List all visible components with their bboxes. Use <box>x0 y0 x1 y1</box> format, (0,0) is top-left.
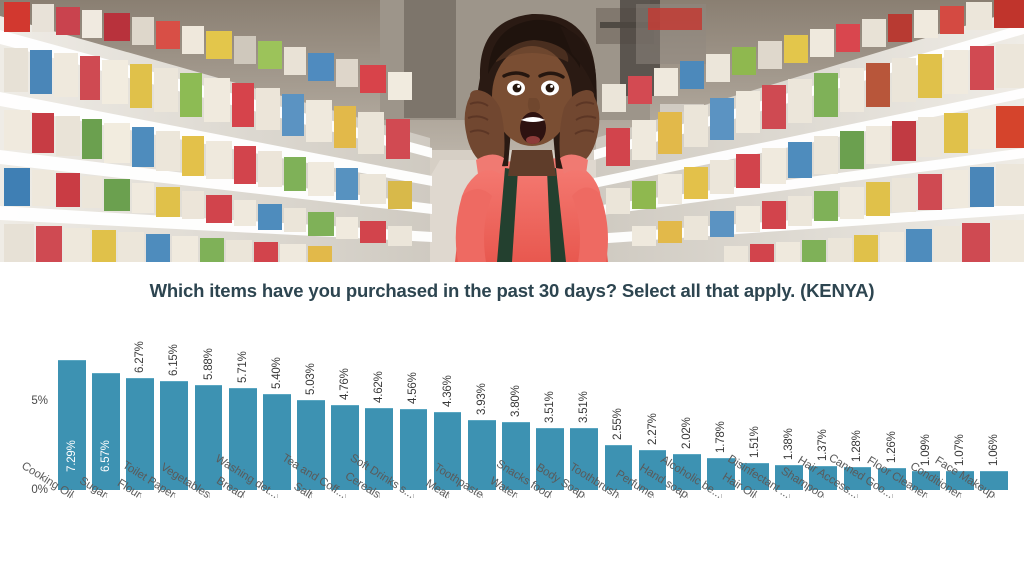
bar[interactable]: 6.57% <box>92 373 120 490</box>
bar-value-label: 1.38% <box>783 429 795 461</box>
category-label-column: Conditioner <box>946 494 974 576</box>
category-label-column: Salt <box>297 494 325 576</box>
category-label-column: Sugar <box>92 494 120 576</box>
bar-column[interactable]: 6.57% <box>92 310 120 490</box>
category-labels-container: Cooking OilSugarFlourToilet PaperVegetab… <box>58 494 1008 576</box>
bar-value-label: 3.80% <box>510 386 522 418</box>
bar-column[interactable]: 1.06% <box>980 310 1008 490</box>
bar-value-label: 1.07% <box>954 434 966 466</box>
bar-value-label: 1.78% <box>715 422 727 454</box>
bar-value-label: 5.03% <box>305 364 317 396</box>
bar-value-label: 6.15% <box>168 344 180 376</box>
category-label-column: Soft Drinks s... <box>400 494 428 576</box>
bar-value-label: 1.09% <box>920 434 932 466</box>
slide-canvas: Which items have you purchased in the pa… <box>0 0 1024 576</box>
bar[interactable]: 5.40% <box>263 394 291 490</box>
category-label-column: Perfume <box>639 494 667 576</box>
bar-value-label: 7.29% <box>66 440 78 472</box>
bar-value-label: 1.26% <box>886 431 898 463</box>
category-label-column: Washing det... <box>263 494 291 576</box>
bar-value-label: 3.93% <box>476 383 488 415</box>
category-label-column: Hand soap <box>673 494 701 576</box>
category-label-column: Face Makeup <box>980 494 1008 576</box>
bar[interactable]: 4.56% <box>400 409 428 490</box>
category-label-column: Snacks food <box>536 494 564 576</box>
category-label-column: Water <box>502 494 530 576</box>
bar-value-label: 6.27% <box>134 342 146 374</box>
category-label-column: Disinfectant ... <box>775 494 803 576</box>
bar-value-label: 1.06% <box>988 435 1000 467</box>
bar[interactable]: 5.88% <box>195 385 223 490</box>
category-label-column: Vegetables <box>195 494 223 576</box>
bar-column[interactable]: 2.55% <box>605 310 633 490</box>
bar-value-label: 4.56% <box>407 372 419 404</box>
category-label-column: Shampoo <box>809 494 837 576</box>
bar-value-label: 6.57% <box>100 440 112 472</box>
bar-value-label: 3.51% <box>544 391 556 423</box>
category-label-column: Toilet Paper <box>160 494 188 576</box>
category-label-column: Bread <box>229 494 257 576</box>
bar[interactable]: 7.29% <box>58 360 86 490</box>
bar-value-label: 4.76% <box>339 369 351 401</box>
category-label-column: Cooking Oil <box>58 494 86 576</box>
bar-value-label: 1.51% <box>749 427 761 459</box>
bar-value-label: 1.37% <box>817 429 829 461</box>
category-label-column: Tea and Coff... <box>331 494 359 576</box>
hero-illustration <box>0 0 1024 262</box>
bar-value-label: 3.51% <box>578 391 590 423</box>
bar-chart-section: Which items have you purchased in the pa… <box>0 262 1024 576</box>
bar-value-label: 5.71% <box>237 352 249 384</box>
category-label-column: Floor Cleaner <box>912 494 940 576</box>
bar-column[interactable]: 7.29% <box>58 310 86 490</box>
bar-value-label: 2.27% <box>647 413 659 445</box>
category-label-column: Canned Goo... <box>878 494 906 576</box>
bar-value-label: 2.02% <box>681 417 693 449</box>
bar-value-label: 5.40% <box>271 357 283 389</box>
category-label-column: Flour <box>126 494 154 576</box>
category-label-column: Toothbrush <box>605 494 633 576</box>
category-label-column: Meat <box>434 494 462 576</box>
bar-value-label: 4.36% <box>442 376 454 408</box>
category-label-column: Hair Access... <box>844 494 872 576</box>
y-axis-tick-0: 0% <box>14 484 48 496</box>
category-label-column: Toothpaste <box>468 494 496 576</box>
category-label-column: Alcoholic be... <box>707 494 735 576</box>
bar-value-label: 2.55% <box>612 408 624 440</box>
bar-column[interactable]: 4.56% <box>400 310 428 490</box>
bar-value-label: 5.88% <box>203 349 215 381</box>
bar-value-label: 4.62% <box>373 371 385 403</box>
bar-value-label: 1.28% <box>851 431 863 463</box>
bar-column[interactable]: 3.93% <box>468 310 496 490</box>
category-label-column: Body Soap <box>570 494 598 576</box>
category-label-column: Hair Oil <box>741 494 769 576</box>
plot-area: 5% 0% 7.29%6.57%6.27%6.15%5.88%5.71%5.40… <box>0 262 1024 576</box>
supermarket-aisle-photo <box>0 0 1024 262</box>
y-axis-tick-5: 5% <box>14 395 48 407</box>
category-label-column: Cereals <box>365 494 393 576</box>
